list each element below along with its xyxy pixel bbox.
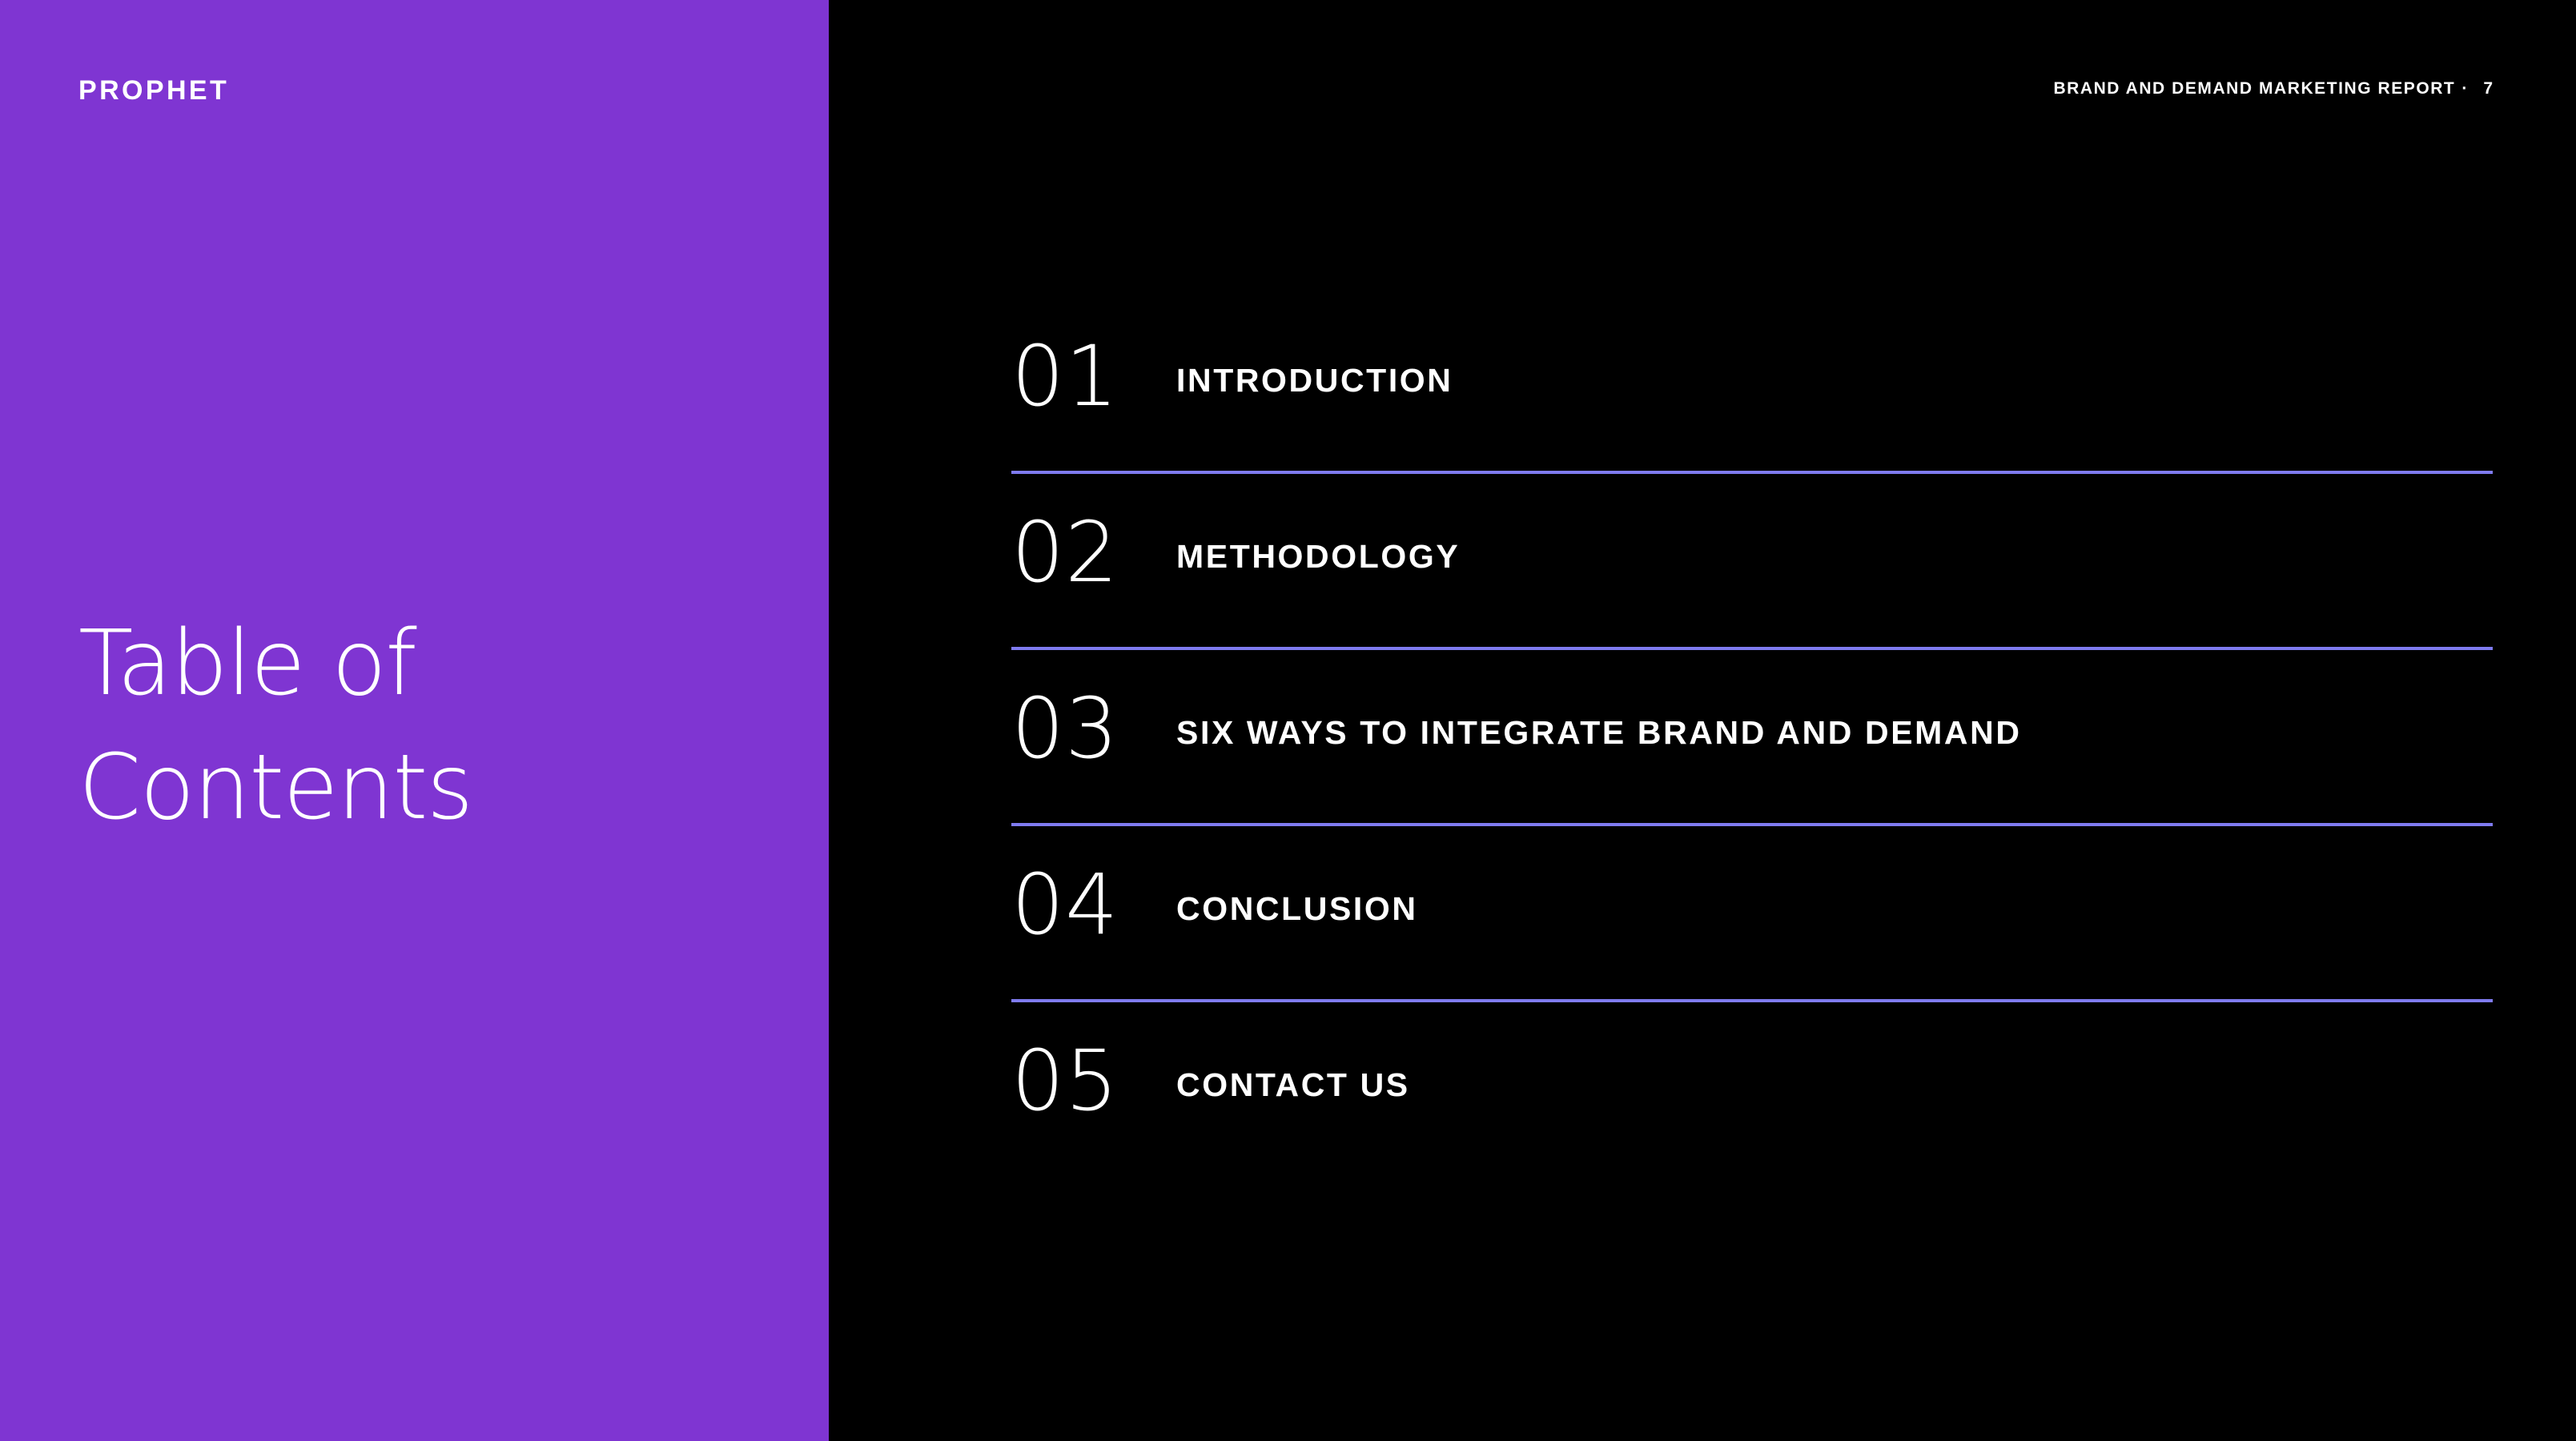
- toc-number: 03: [1011, 680, 1176, 770]
- toc-number: 02: [1011, 504, 1176, 594]
- page-title-line-1: Table of: [78, 602, 783, 726]
- toc-label: CONTACT US: [1176, 1033, 1410, 1102]
- toc-label: METHODOLOGY: [1176, 504, 1460, 573]
- toc-label: SIX WAYS TO INTEGRATE BRAND AND DEMAND: [1176, 680, 2022, 749]
- page-title-line-2: Contents: [78, 726, 783, 850]
- toc-divider: [1011, 999, 2493, 1002]
- toc-label: CONCLUSION: [1176, 857, 1418, 925]
- slide-canvas: PROPHET Table of Contents BRAND AND DEMA…: [0, 0, 2576, 1441]
- header-separator-dot: ·: [2455, 80, 2470, 97]
- prophet-logo: PROPHET: [78, 77, 229, 104]
- toc-divider: [1011, 471, 2493, 474]
- toc-entry-02[interactable]: 02 METHODOLOGY: [1011, 504, 2493, 680]
- toc-number: 04: [1011, 857, 1176, 946]
- toc-entry-01[interactable]: 01 INTRODUCTION: [1011, 328, 2493, 504]
- document-name: BRAND AND DEMAND MARKETING REPORT: [2053, 80, 2455, 97]
- left-purple-panel: PROPHET Table of Contents: [0, 0, 829, 1441]
- toc-label: INTRODUCTION: [1176, 328, 1453, 397]
- toc-number: 01: [1011, 328, 1176, 418]
- toc-entry-03[interactable]: 03 SIX WAYS TO INTEGRATE BRAND AND DEMAN…: [1011, 680, 2493, 857]
- table-of-contents-list: 01 INTRODUCTION 02 METHODOLOGY 03 SIX WA…: [1011, 328, 2493, 1185]
- document-header: BRAND AND DEMAND MARKETING REPORT · 7: [2053, 80, 2493, 97]
- toc-number: 05: [1011, 1033, 1176, 1122]
- toc-entry-05[interactable]: 05 CONTACT US: [1011, 1033, 2493, 1185]
- page-number: 7: [2470, 80, 2493, 97]
- toc-divider: [1011, 823, 2493, 826]
- toc-divider: [1011, 647, 2493, 650]
- page-title: Table of Contents: [78, 602, 783, 849]
- toc-entry-04[interactable]: 04 CONCLUSION: [1011, 857, 2493, 1033]
